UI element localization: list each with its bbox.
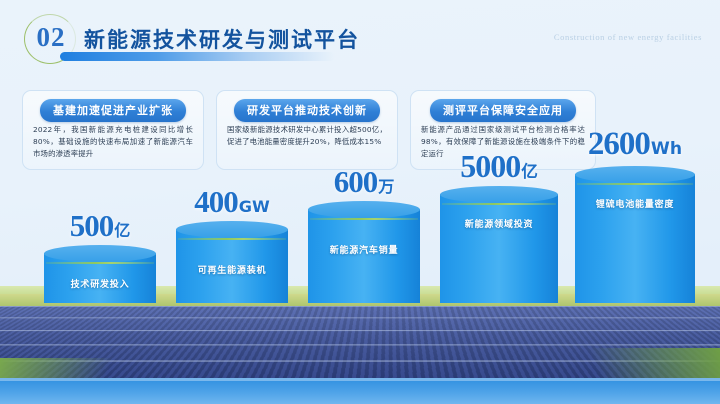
chart-bar-body <box>308 209 420 303</box>
chart-bar-value: 2600Wh <box>575 126 695 163</box>
chart-bar-accent-line <box>310 218 418 220</box>
chart-bar-value: 5000亿 <box>440 148 558 185</box>
chart-bar-label: 新能源领域投资 <box>440 217 558 230</box>
chart-bar-value: 600万 <box>308 164 420 200</box>
chart-bar-accent-line <box>442 203 556 205</box>
chart-bar-accent-line <box>577 183 693 185</box>
chart-bar-unit: 亿 <box>114 221 130 240</box>
chart-bar-body <box>575 174 695 303</box>
chart-bar-top-cap <box>440 186 558 203</box>
chart-bar-value: 400GW <box>176 184 288 220</box>
chart-bar[interactable]: 2600Wh 锂硫电池能量密度 <box>575 166 695 303</box>
chart-bar-unit: GW <box>239 197 270 216</box>
chart-bar-body <box>440 194 558 303</box>
chart-bar-unit: 万 <box>378 177 394 196</box>
chart-bar[interactable]: 5000亿 新能源领域投资 <box>440 186 558 303</box>
chart-bar-label: 锂硫电池能量密度 <box>575 197 695 210</box>
chart-bar-top-cap <box>575 166 695 183</box>
chart-bar-label: 可再生能源装机 <box>176 263 288 276</box>
chart-bar-value: 500亿 <box>44 208 156 244</box>
slide-root: 02 新能源技术研发与测试平台 Construction of new ener… <box>0 0 720 404</box>
chart-bar-top-cap <box>44 245 156 262</box>
cylinder-bar-chart: 500亿 技术研发投入 400GW 可再生能源装机 600万 新能源汽车销量 <box>0 0 720 404</box>
chart-bar-unit: Wh <box>651 139 682 159</box>
chart-bar-accent-line <box>46 262 154 264</box>
chart-bar-top-cap <box>176 221 288 238</box>
chart-bar[interactable]: 500亿 技术研发投入 <box>44 245 156 303</box>
chart-bar-unit: 亿 <box>521 162 538 181</box>
chart-bar-top-cap <box>308 201 420 218</box>
chart-bar[interactable]: 600万 新能源汽车销量 <box>308 201 420 303</box>
chart-bar-label: 新能源汽车销量 <box>308 243 420 256</box>
chart-bar-label: 技术研发投入 <box>44 277 156 290</box>
chart-bar[interactable]: 400GW 可再生能源装机 <box>176 221 288 303</box>
chart-bar-accent-line <box>178 238 286 240</box>
